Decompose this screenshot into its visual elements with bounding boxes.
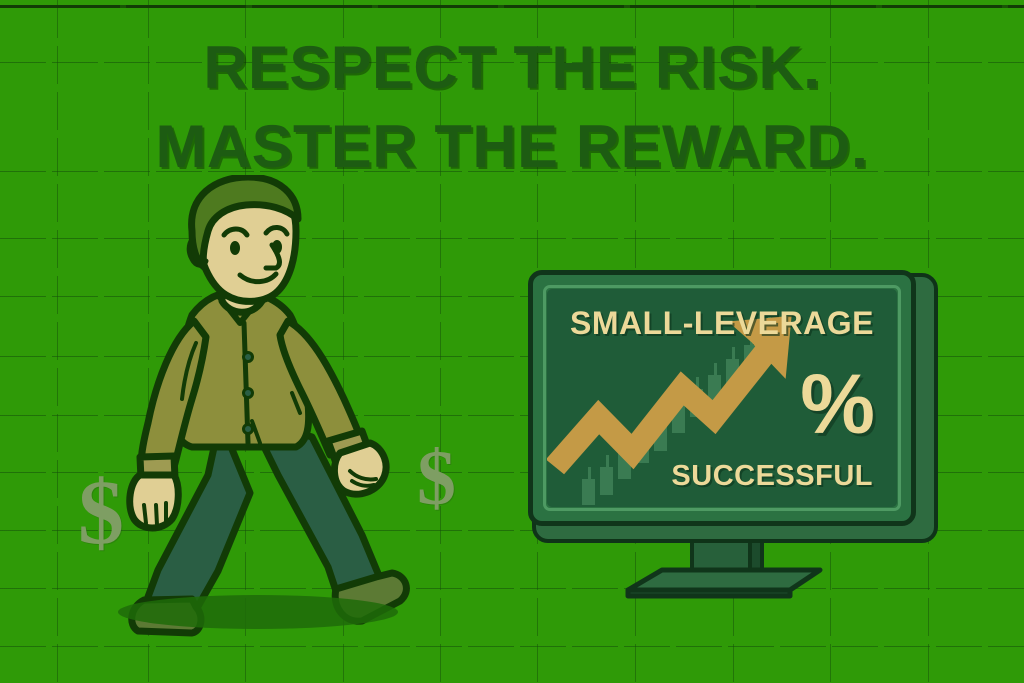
headline-line-1: RESPECT THE RISK. xyxy=(0,33,1024,102)
walking-businessman-figure xyxy=(100,175,430,645)
monitor-stand-base xyxy=(620,566,832,600)
percent-symbol: % xyxy=(800,367,875,443)
monitor-screen: SMALL-LEVERAGE % SUCCESSFUL xyxy=(547,289,897,507)
screen-subtitle: SUCCESSFUL xyxy=(671,460,873,493)
top-rule xyxy=(0,5,1024,8)
eye-right xyxy=(272,240,282,254)
screen-title: SMALL-LEVERAGE xyxy=(547,305,897,342)
poster-canvas: RESPECT THE RISK. MASTER THE REWARD. $ $ xyxy=(0,0,1024,683)
figure-illustration xyxy=(100,175,430,645)
monitor-bezel: SMALL-LEVERAGE % SUCCESSFUL xyxy=(528,270,916,526)
figure-ground-shadow xyxy=(118,595,398,629)
headline-line-2: MASTER THE REWARD. xyxy=(0,112,1024,181)
eye-left xyxy=(230,241,240,255)
monitor: SMALL-LEVERAGE % SUCCESSFUL xyxy=(528,270,928,536)
